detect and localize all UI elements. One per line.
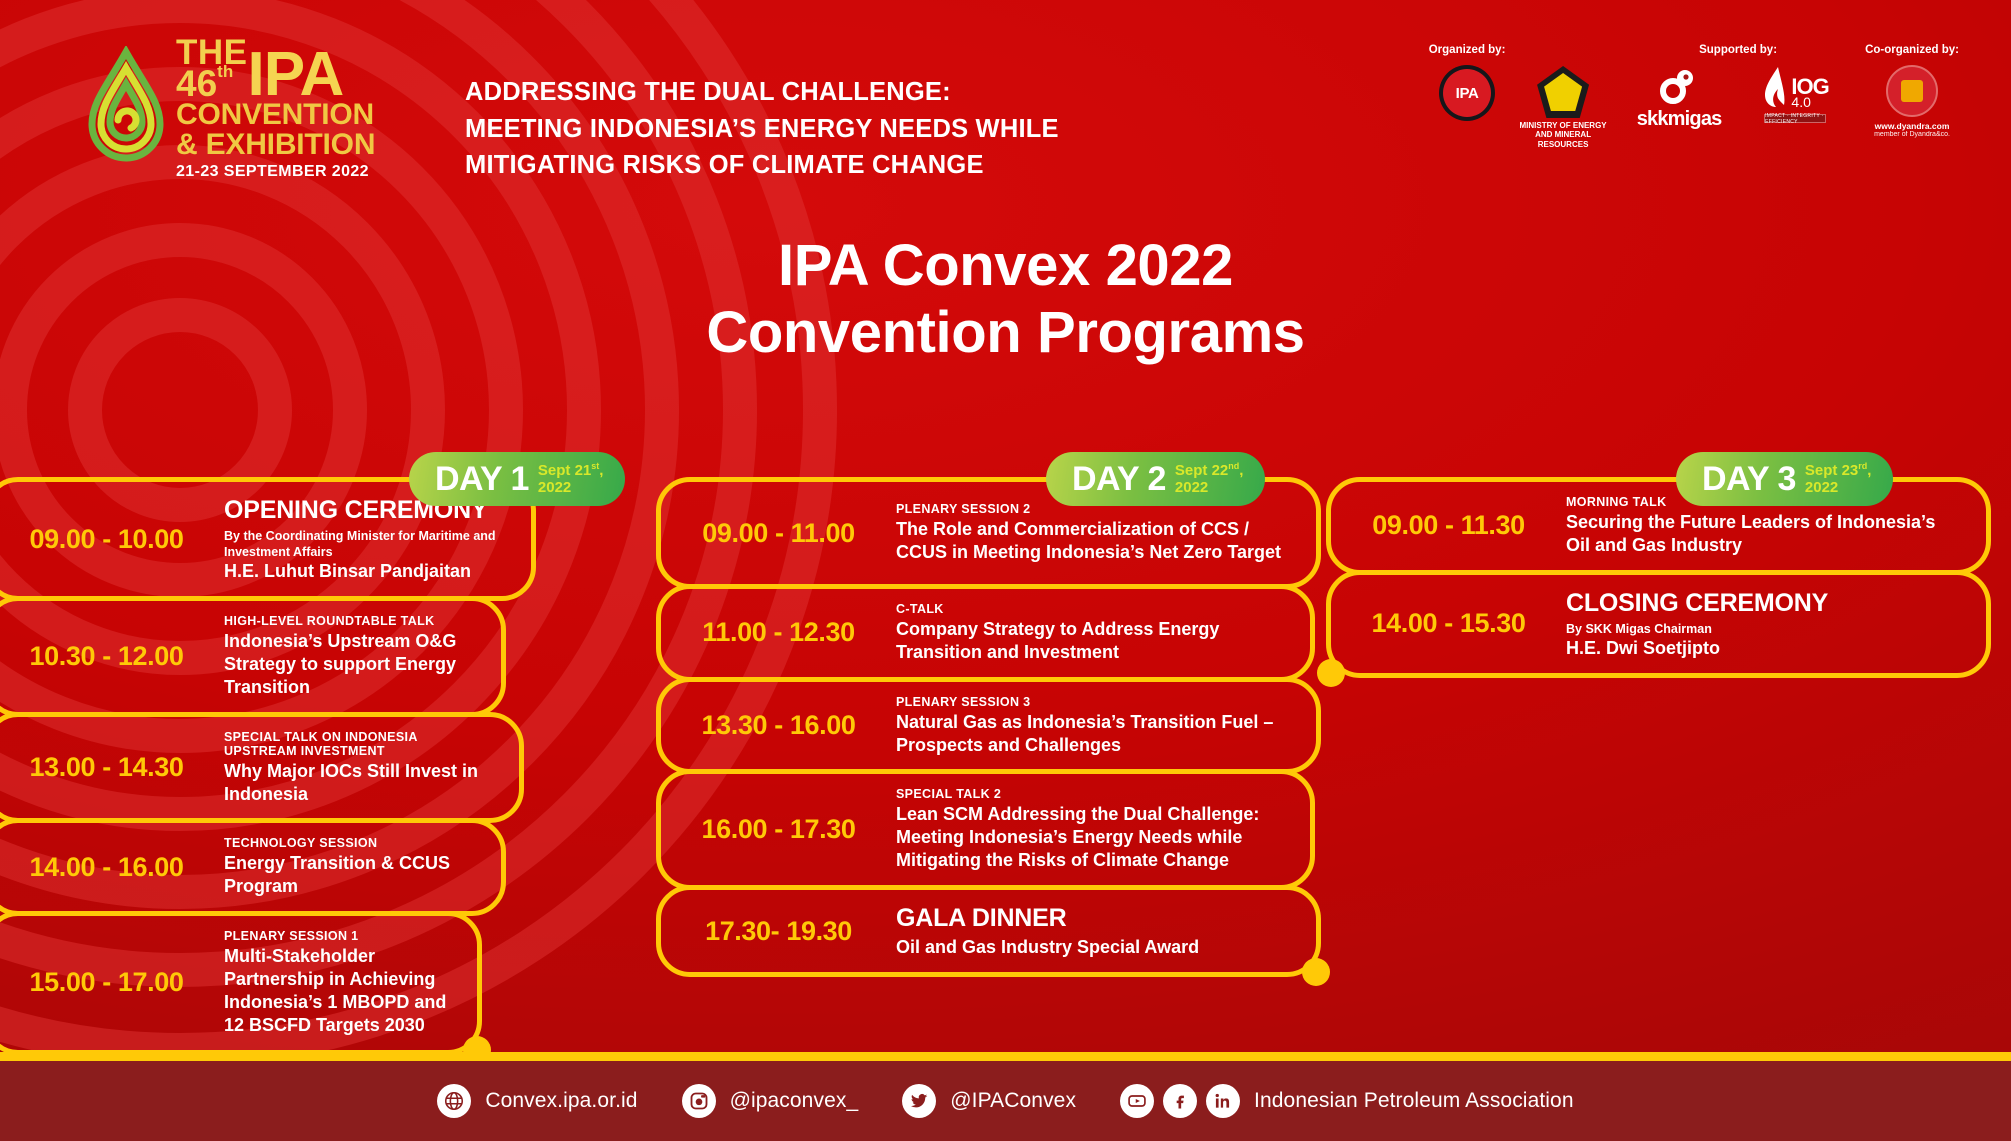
session-kicker: PLENARY SESSION 3 xyxy=(896,695,1290,709)
ministry-name: MINISTRY OF ENERGY AND MINERAL RESOURCES xyxy=(1517,121,1609,149)
tagline-line-2: MEETING INDONESIA’S ENERGY NEEDS WHILE xyxy=(465,111,1059,148)
timeline-end-dot xyxy=(1317,659,1345,687)
iog-flame-icon xyxy=(1761,65,1787,109)
session-list-2: 09.00 - 11.00PLENARY SESSION 2The Role a… xyxy=(686,482,1331,977)
ipa-convex-logo: THE 46th IPA CONVENTION & EXHIBITION 21-… xyxy=(78,38,378,168)
dyandra-url: www.dyandra.com xyxy=(1875,121,1950,131)
session-info: SPECIAL TALK 2Lean SCM Addressing the Du… xyxy=(896,787,1310,872)
session-card[interactable]: 16.00 - 17.30SPECIAL TALK 2Lean SCM Addr… xyxy=(656,769,1315,890)
page-title-line-1: IPA Convex 2022 xyxy=(0,232,2011,299)
session-title: Company Strategy to Address Energy Trans… xyxy=(896,618,1284,664)
session-time: 13.00 - 14.30 xyxy=(0,752,224,783)
session-kicker: HIGH-LEVEL ROUNDTABLE TALK xyxy=(224,614,475,628)
logo-wordmark: THE 46th IPA CONVENTION & EXHIBITION 21-… xyxy=(176,38,386,181)
day-date-day-1: Sept 21 xyxy=(538,462,591,479)
footer-icon-cluster xyxy=(1120,1084,1240,1118)
day-badge-label-2: DAY 2 xyxy=(1072,462,1166,496)
session-kicker: PLENARY SESSION 1 xyxy=(224,929,451,943)
day-badge-date-2: Sept 22nd, 2022 xyxy=(1175,461,1244,497)
session-title: Lean SCM Addressing the Dual Challenge: … xyxy=(896,803,1284,872)
day-date-year-2: 2022 xyxy=(1175,479,1208,496)
session-title: Natural Gas as Indonesia’s Transition Fu… xyxy=(896,711,1290,757)
session-title: GALA DINNER xyxy=(896,903,1290,935)
day-date-year-1: 2022 xyxy=(538,479,571,496)
day-badge-3: DAY 3 Sept 23rd, 2022 xyxy=(1676,452,1893,506)
session-time: 17.30- 19.30 xyxy=(661,916,896,947)
session-title: Multi-Stakeholder Partnership in Achievi… xyxy=(224,945,451,1036)
session-info: TECHNOLOGY SESSIONEnergy Transition & CC… xyxy=(224,836,501,898)
session-title: Indonesia’s Upstream O&G Strategy to sup… xyxy=(224,630,475,699)
skkmigas-logo: skkmigas xyxy=(1633,65,1725,131)
day-badge-date-3: Sept 23rd, 2022 xyxy=(1805,461,1872,497)
dyandra-member-note: member of Dyandra&co. xyxy=(1874,131,1950,138)
session-title: Energy Transition & CCUS Program xyxy=(224,852,475,898)
day-badge-1: DAY 1 Sept 21st, 2022 xyxy=(409,452,625,506)
session-info: GALA DINNEROil and Gas Industry Special … xyxy=(896,903,1316,959)
session-title: Why Major IOCs Still Invest in Indonesia xyxy=(224,760,493,806)
session-time: 15.00 - 17.00 xyxy=(0,967,224,998)
logo-exhibition: & EXHIBITION xyxy=(176,130,386,160)
ministry-group: MINISTRY OF ENERGY AND MINERAL RESOURCES xyxy=(1517,66,1609,149)
page-title: IPA Convex 2022 Convention Programs xyxy=(0,232,2011,367)
session-info: PLENARY SESSION 2The Role and Commercial… xyxy=(896,502,1316,564)
session-info: C-TALKCompany Strategy to Address Energy… xyxy=(896,602,1310,664)
logo-dates: 21-23 SEPTEMBER 2022 xyxy=(176,163,386,181)
poster-header: THE 46th IPA CONVENTION & EXHIBITION 21-… xyxy=(0,0,2011,200)
session-title: CLOSING CEREMONY xyxy=(1566,588,1960,620)
session-time: 11.00 - 12.30 xyxy=(661,617,896,648)
tagline-line-1: ADDRESSING THE DUAL CHALLENGE: xyxy=(465,74,1059,111)
twitter-icon xyxy=(902,1084,936,1118)
instagram-label: @ipaconvex_ xyxy=(730,1089,859,1113)
ministry-logo: MINISTRY OF ENERGY AND MINERAL RESOURCES xyxy=(1517,66,1609,149)
session-kicker: TECHNOLOGY SESSION xyxy=(224,836,475,850)
session-card[interactable]: 17.30- 19.30GALA DINNEROil and Gas Indus… xyxy=(656,885,1321,977)
day-date-suffix-3: rd xyxy=(1858,461,1867,471)
day-date-comma-3: , xyxy=(1867,462,1871,479)
youtube-icon[interactable] xyxy=(1120,1084,1154,1118)
day-badge-label-1: DAY 1 xyxy=(435,462,529,496)
session-card[interactable]: 15.00 - 17.00PLENARY SESSION 1Multi-Stak… xyxy=(0,911,482,1054)
session-info: SPECIAL TALK ON INDONESIA UPSTREAM INVES… xyxy=(224,730,519,806)
session-title: The Role and Commercialization of CCS / … xyxy=(896,518,1290,564)
session-info: OPENING CEREMONYBy the Coordinating Mini… xyxy=(224,495,531,583)
facebook-icon[interactable] xyxy=(1163,1084,1197,1118)
session-card[interactable]: 11.00 - 12.30C-TALKCompany Strategy to A… xyxy=(656,584,1315,682)
organized-by-caption: Organized by: xyxy=(1429,44,1506,56)
footer-item-instagram[interactable]: @ipaconvex_ xyxy=(682,1084,859,1118)
session-time: 09.00 - 10.00 xyxy=(0,524,224,555)
session-time: 09.00 - 11.00 xyxy=(661,518,896,549)
session-kicker: SPECIAL TALK ON INDONESIA UPSTREAM INVES… xyxy=(224,730,493,758)
session-time: 13.30 - 16.00 xyxy=(661,710,896,741)
logo-acronym: IPA xyxy=(248,50,344,100)
schedule-grid: DAY 1 Sept 21st, 2022 09.00 - 10.00OPENI… xyxy=(0,452,2011,1032)
sponsor-logos: Organized by: IPA MINISTRY OF ENERGY AND… xyxy=(1421,44,1959,149)
iog-tagline: IMPACT · INTEGRITY · EFFICIENCY xyxy=(1764,114,1826,123)
footer-item-association[interactable]: Indonesian Petroleum Association xyxy=(1120,1084,1574,1118)
session-time: 16.00 - 17.30 xyxy=(661,814,896,845)
coorganized-by-caption: Co-organized by: xyxy=(1865,44,1959,56)
session-kicker: C-TALK xyxy=(896,602,1284,616)
session-info: HIGH-LEVEL ROUNDTABLE TALKIndonesia’s Up… xyxy=(224,614,501,699)
footer-divider xyxy=(0,1052,2011,1061)
day-date-day-3: Sept 23 xyxy=(1805,462,1858,479)
session-card[interactable]: 13.00 - 14.30SPECIAL TALK ON INDONESIA U… xyxy=(0,712,524,824)
ministry-seal-icon xyxy=(1537,66,1589,118)
session-list-3: 09.00 - 11.30MORNING TALKSecuring the Fu… xyxy=(1356,482,2001,678)
ipa-logo: IPA xyxy=(1421,65,1513,121)
supported-by-caption: Supported by: xyxy=(1699,44,1777,56)
day-date-comma-1: , xyxy=(599,462,603,479)
footer-item-twitter[interactable]: @IPAConvex xyxy=(902,1084,1076,1118)
page-title-line-2: Convention Programs xyxy=(0,299,2011,366)
iog-logo: IOG 4.0 IMPACT · INTEGRITY · EFFICIENCY xyxy=(1747,65,1843,123)
session-time: 14.00 - 15.30 xyxy=(1331,608,1566,639)
instagram-icon xyxy=(682,1084,716,1118)
session-speaker: Oil and Gas Industry Special Award xyxy=(896,936,1290,959)
session-card[interactable]: 09.00 - 11.30MORNING TALKSecuring the Fu… xyxy=(1326,477,1991,575)
event-tagline: ADDRESSING THE DUAL CHALLENGE: MEETING I… xyxy=(465,74,1059,184)
footer-item-website[interactable]: Convex.ipa.or.id xyxy=(437,1084,637,1118)
session-info: CLOSING CEREMONYBy SKK Migas ChairmanH.E… xyxy=(1566,588,1986,660)
session-card[interactable]: 14.00 - 15.30CLOSING CEREMONYBy SKK Miga… xyxy=(1326,570,1991,678)
dyandra-seal-icon xyxy=(1886,65,1938,117)
globe-icon xyxy=(437,1084,471,1118)
session-kicker: SPECIAL TALK 2 xyxy=(896,787,1284,801)
coorganized-by-group: Co-organized by: www.dyandra.com member … xyxy=(1865,44,1959,138)
linkedin-icon[interactable] xyxy=(1206,1084,1240,1118)
session-card[interactable]: 13.30 - 16.00PLENARY SESSION 3Natural Ga… xyxy=(656,677,1321,775)
ipa-seal-text: IPA xyxy=(1456,85,1479,102)
session-speaker: H.E. Luhut Binsar Pandjaitan xyxy=(224,560,505,583)
timeline-end-dot xyxy=(1302,958,1330,986)
day-badge-label-3: DAY 3 xyxy=(1702,462,1796,496)
ipa-flame-logo-icon xyxy=(78,46,174,166)
session-title: Securing the Future Leaders of Indonesia… xyxy=(1566,511,1960,557)
website-label: Convex.ipa.or.id xyxy=(485,1089,637,1113)
session-card[interactable]: 14.00 - 16.00TECHNOLOGY SESSIONEnergy Tr… xyxy=(0,818,506,916)
association-label: Indonesian Petroleum Association xyxy=(1254,1089,1574,1113)
day-date-comma-2: , xyxy=(1239,462,1243,479)
ipa-seal-icon: IPA xyxy=(1439,65,1495,121)
dyandra-logo: www.dyandra.com member of Dyandra&co. xyxy=(1866,65,1958,138)
day-date-suffix-2: nd xyxy=(1228,461,1239,471)
session-info: PLENARY SESSION 3Natural Gas as Indonesi… xyxy=(896,695,1316,757)
session-time: 10.30 - 12.00 xyxy=(0,641,224,672)
skkmigas-wordmark: skkmigas xyxy=(1637,108,1722,131)
session-time: 09.00 - 11.30 xyxy=(1331,510,1566,541)
supported-by-group: Supported by: skkmigas xyxy=(1633,44,1843,131)
twitter-label: @IPAConvex xyxy=(950,1089,1076,1113)
tagline-line-3: MITIGATING RISKS OF CLIMATE CHANGE xyxy=(465,147,1059,184)
day-badge-2: DAY 2 Sept 22nd, 2022 xyxy=(1046,452,1265,506)
session-byline: By the Coordinating Minister for Maritim… xyxy=(224,528,505,561)
logo-edition-suffix: th xyxy=(217,62,233,81)
day-date-day-2: Sept 22 xyxy=(1175,462,1228,479)
footer-bar: Convex.ipa.or.id @ipaconvex_ @IPAConvex xyxy=(0,1061,2011,1141)
day-date-year-3: 2022 xyxy=(1805,479,1838,496)
organized-by-group: Organized by: IPA xyxy=(1421,44,1513,121)
session-byline: By SKK Migas Chairman xyxy=(1566,621,1960,637)
skkmigas-mark-icon xyxy=(1659,65,1699,105)
session-card[interactable]: 10.30 - 12.00HIGH-LEVEL ROUNDTABLE TALKI… xyxy=(0,596,506,717)
session-time: 14.00 - 16.00 xyxy=(0,852,224,883)
logo-convention: CONVENTION xyxy=(176,100,386,130)
session-speaker: H.E. Dwi Soetjipto xyxy=(1566,637,1960,660)
session-list-1: 09.00 - 10.00OPENING CEREMONYBy the Coor… xyxy=(14,482,654,1055)
session-info: PLENARY SESSION 1Multi-Stakeholder Partn… xyxy=(224,929,477,1036)
day-badge-date-1: Sept 21st, 2022 xyxy=(538,461,604,497)
